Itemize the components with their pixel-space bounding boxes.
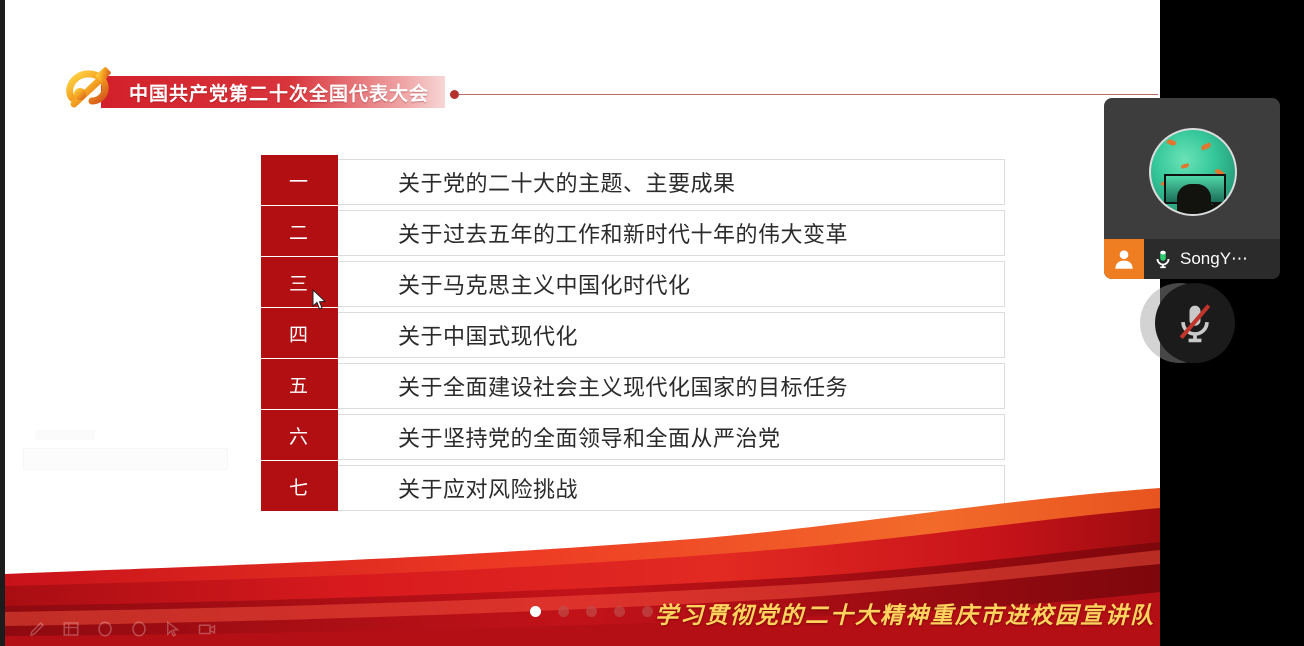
list-item-number-label: 七: [289, 473, 310, 500]
participant-name-label: SongY⋯: [1180, 249, 1248, 269]
list-item-number-label: 一: [289, 167, 310, 194]
list-item[interactable]: 关于党的二十大的主题、主要成果 一: [261, 155, 1005, 205]
presentation-toolbar[interactable]: [27, 620, 217, 638]
list-item-textbox: 关于中国式现代化: [277, 312, 1005, 358]
list-item-label: 关于党的二十大的主题、主要成果: [398, 166, 736, 198]
slide-watermark: [23, 448, 228, 470]
presentation-slide[interactable]: 中国共产党第二十次全国代表大会 关于党的二十大的主题、主要成果 一 关于过去五年…: [5, 0, 1160, 646]
list-item-textbox: 关于全面建设社会主义现代化国家的目标任务: [277, 363, 1005, 409]
list-item[interactable]: 关于坚持党的全面领导和全面从严治党 六: [261, 410, 1005, 460]
cursor-pointer-icon[interactable]: [163, 620, 183, 638]
progress-dot-4[interactable]: [614, 606, 625, 617]
slide-watermark-secondary: [35, 430, 95, 440]
list-item-number: 一: [261, 155, 338, 205]
person-icon: [1104, 239, 1144, 279]
progress-dot-1[interactable]: [530, 606, 541, 617]
list-item-number: 六: [261, 410, 338, 460]
list-item-number-label: 六: [289, 422, 310, 449]
mouse-pointer-icon: [312, 289, 328, 311]
list-item-number-label: 四: [289, 320, 310, 347]
participant-video-tile[interactable]: SongY⋯: [1104, 98, 1280, 279]
participant-name-bar: SongY⋯: [1104, 239, 1280, 279]
list-item-textbox: 关于马克思主义中国化时代化: [277, 261, 1005, 307]
agenda-list: 关于党的二十大的主题、主要成果 一 关于过去五年的工作和新时代十年的伟大变革 二…: [261, 155, 1005, 512]
hammer-sickle-emblem-icon: [60, 64, 122, 112]
progress-dot-5[interactable]: [642, 606, 653, 617]
slide-title-text: 中国共产党第二十次全国代表大会: [129, 79, 429, 106]
list-item-label: 关于过去五年的工作和新时代十年的伟大变革: [398, 217, 848, 249]
list-item-number: 四: [261, 308, 338, 358]
footer-gold-title: 学习贯彻党的二十大精神重庆市进校园宣讲队: [655, 596, 1155, 630]
list-item-textbox: 关于坚持党的全面领导和全面从严治党: [277, 414, 1005, 460]
list-item-label: 关于坚持党的全面领导和全面从严治党: [398, 421, 781, 453]
screen-root: 中国共产党第二十次全国代表大会 关于党的二十大的主题、主要成果 一 关于过去五年…: [0, 0, 1304, 646]
video-camera-icon[interactable]: [197, 620, 217, 638]
progress-dot-2[interactable]: [558, 606, 569, 617]
list-item-number: 七: [261, 461, 338, 511]
list-item[interactable]: 关于中国式现代化 四: [261, 308, 1005, 358]
header-accent-line: [458, 94, 1158, 96]
list-item[interactable]: 关于全面建设社会主义现代化国家的目标任务 五: [261, 359, 1005, 409]
microphone-muted-icon[interactable]: [1173, 301, 1217, 345]
avatar: [1149, 128, 1237, 216]
list-item-number-label: 五: [289, 371, 310, 398]
ellipse-icon[interactable]: [95, 620, 115, 638]
slide-header: 中国共产党第二十次全国代表大会: [5, 30, 1160, 90]
list-item-number: 二: [261, 206, 338, 256]
list-item-label: 关于中国式现代化: [398, 319, 578, 351]
list-item-number-label: 三: [289, 269, 310, 296]
list-item-label: 关于马克思主义中国化时代化: [398, 268, 691, 300]
grid-icon[interactable]: [61, 620, 81, 638]
microphone-on-icon: [1150, 248, 1176, 270]
progress-dot-3[interactable]: [586, 606, 597, 617]
slide-progress-dots[interactable]: [530, 606, 653, 617]
ellipse-outline-icon[interactable]: [129, 620, 149, 638]
list-item-number-label: 二: [289, 218, 310, 245]
list-item-label: 关于全面建设社会主义现代化国家的目标任务: [398, 370, 848, 402]
list-item-textbox: 关于过去五年的工作和新时代十年的伟大变革: [277, 210, 1005, 256]
list-item-textbox: 关于党的二十大的主题、主要成果: [277, 159, 1005, 205]
pen-icon[interactable]: [27, 620, 47, 638]
list-item-number: 五: [261, 359, 338, 409]
list-item[interactable]: 关于过去五年的工作和新时代十年的伟大变革 二: [261, 206, 1005, 256]
slide-title-banner: 中国共产党第二十次全国代表大会: [101, 76, 445, 108]
mute-button[interactable]: [1155, 283, 1235, 363]
list-item[interactable]: 关于马克思主义中国化时代化 三: [261, 257, 1005, 307]
